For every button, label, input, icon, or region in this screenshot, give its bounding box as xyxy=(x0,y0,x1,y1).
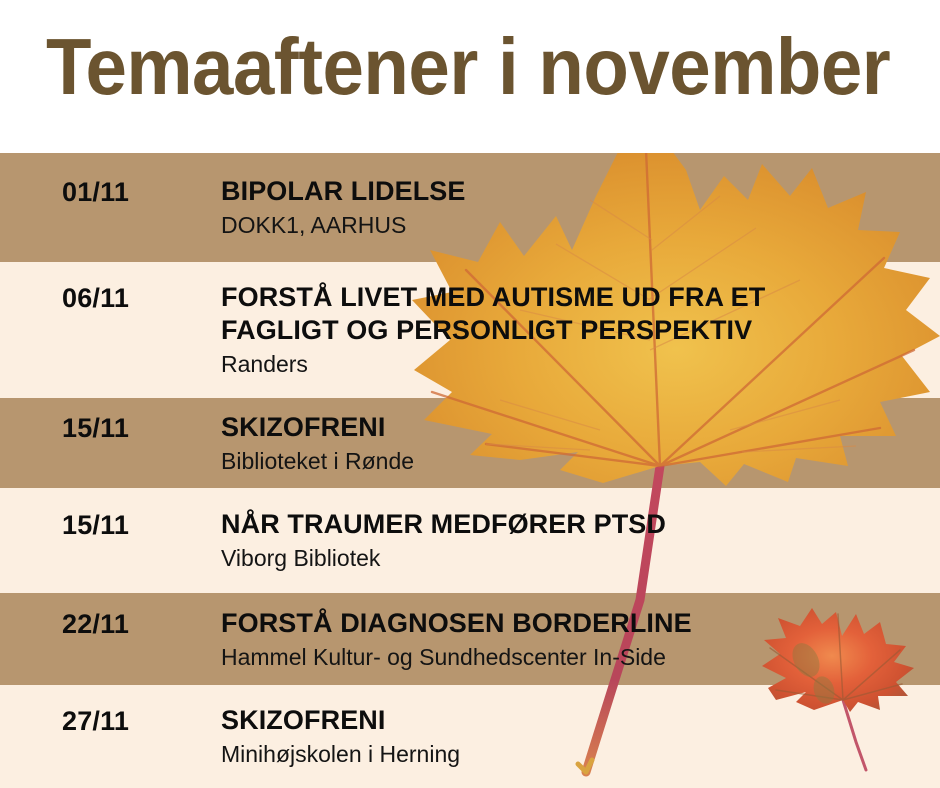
event-date: 27/11 xyxy=(62,706,129,737)
event-body: FORSTÅ LIVET MED AUTISME UD FRA ETFAGLIG… xyxy=(221,281,921,379)
event-body: FORSTÅ DIAGNOSEN BORDERLINEHammel Kultur… xyxy=(221,607,921,672)
event-row[interactable]: 22/11FORSTÅ DIAGNOSEN BORDERLINEHammel K… xyxy=(0,593,940,685)
event-title-line: SKIZOFRENI xyxy=(221,411,921,444)
event-title-line: FORSTÅ DIAGNOSEN BORDERLINE xyxy=(221,607,921,640)
event-title-line: FORSTÅ LIVET MED AUTISME UD FRA ET xyxy=(221,281,921,314)
event-body: NÅR TRAUMER MEDFØRER PTSDViborg Bibliote… xyxy=(221,508,921,573)
event-venue: Randers xyxy=(221,349,921,379)
event-date: 06/11 xyxy=(62,283,129,314)
event-row[interactable]: 27/11SKIZOFRENIMinihøjskolen i Herning xyxy=(0,685,940,788)
title-band: Temaaftener i november xyxy=(0,0,940,153)
event-date: 01/11 xyxy=(62,177,129,208)
event-title-line: NÅR TRAUMER MEDFØRER PTSD xyxy=(221,508,921,541)
page-title: Temaaftener i november xyxy=(46,26,890,108)
event-row[interactable]: 15/11SKIZOFRENIBiblioteket i Rønde xyxy=(0,398,940,488)
event-title-line: SKIZOFRENI xyxy=(221,704,921,737)
event-venue: Viborg Bibliotek xyxy=(221,543,921,573)
event-body: SKIZOFRENIMinihøjskolen i Herning xyxy=(221,704,921,769)
event-venue: Minihøjskolen i Herning xyxy=(221,739,921,769)
event-title-line: FAGLIGT OG PERSONLIGT PERSPEKTIV xyxy=(221,314,921,347)
poster-canvas: 01/11BIPOLAR LIDELSEDOKK1, AARHUS06/11FO… xyxy=(0,0,940,788)
event-venue: Biblioteket i Rønde xyxy=(221,446,921,476)
event-row[interactable]: 01/11BIPOLAR LIDELSEDOKK1, AARHUS xyxy=(0,153,940,262)
event-date: 15/11 xyxy=(62,413,129,444)
event-venue: Hammel Kultur- og Sundhedscenter In-Side xyxy=(221,642,921,672)
event-date: 15/11 xyxy=(62,510,129,541)
event-body: SKIZOFRENIBiblioteket i Rønde xyxy=(221,411,921,476)
event-venue: DOKK1, AARHUS xyxy=(221,210,921,240)
event-title-line: BIPOLAR LIDELSE xyxy=(221,175,921,208)
event-date: 22/11 xyxy=(62,609,129,640)
event-row[interactable]: 15/11NÅR TRAUMER MEDFØRER PTSDViborg Bib… xyxy=(0,488,940,593)
event-body: BIPOLAR LIDELSEDOKK1, AARHUS xyxy=(221,175,921,240)
event-row[interactable]: 06/11FORSTÅ LIVET MED AUTISME UD FRA ETF… xyxy=(0,262,940,398)
